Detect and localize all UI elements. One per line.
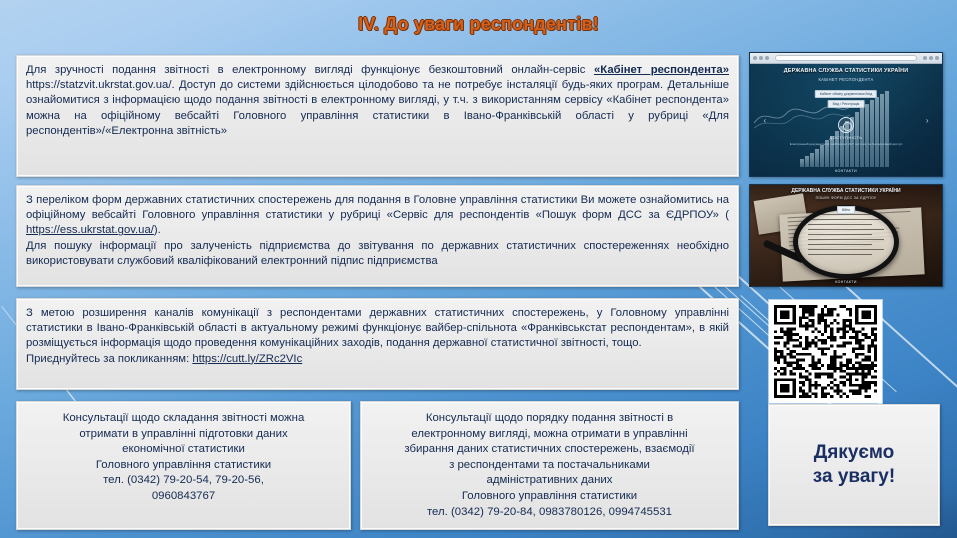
block2-rest: ). — [154, 224, 161, 236]
browser-chrome-bar — [750, 53, 942, 64]
screenshot-cabinet-respondent[interactable]: ДЕРЖАВНА СЛУЖБА СТАТИСТИКИ УКРАЇНИ КАБІН… — [749, 52, 943, 177]
contact-right-line-5: адміністративних даних — [368, 473, 731, 489]
bar-4 — [815, 149, 819, 167]
contact-right-line-1: Консультації щодо порядку подання звітно… — [368, 411, 731, 427]
cabinet-header-title: ДЕРЖАВНА СЛУЖБА СТАТИСТИКИ УКРАЇНИ — [750, 68, 942, 74]
lens-text-line-2 — [808, 219, 884, 220]
contact-left-line-2: отримати в управлінні підготовки даних — [24, 427, 343, 443]
reload-icon — [765, 56, 769, 60]
lens-text-line-4 — [808, 229, 884, 230]
contact-box-electronic-reporting: Консультації щодо порядку подання звітно… — [360, 401, 739, 530]
contact-right-line-7: тел. (0342) 79-20-84, 0983780126, 099474… — [368, 505, 731, 521]
info-panel-cabinet: Для зручності подання звітності в електр… — [16, 55, 739, 177]
contact-right-line-4: з респондентами та постачальниками — [368, 458, 731, 474]
cabinet-accessibility-label: ДОСТУПНІСТЬ — [750, 135, 942, 140]
bar-2 — [805, 156, 809, 167]
lens-text-line-5 — [808, 234, 872, 235]
block1-lead: Для зручності подання звітності в електр… — [26, 64, 594, 76]
browser-toolbar-icons — [923, 56, 939, 60]
qr-code[interactable] — [769, 300, 882, 403]
thank-you-text: Дякуємо за увагу! — [813, 441, 895, 489]
info-panel-viber-community-text: З метою розширення каналів комунікації з… — [17, 299, 738, 373]
block3-lead: З метою розширення каналів комунікації з… — [26, 306, 729, 352]
info-panel-forms-list: З переліком форм державних статистичних … — [16, 185, 739, 287]
accessibility-icon — [838, 117, 854, 133]
info-panel-viber-community: З метою розширення каналів комунікації з… — [16, 298, 739, 390]
bar-1 — [800, 159, 804, 167]
block1-url[interactable]: https://statzvit.ukrstat.gov.ua/ — [26, 79, 171, 91]
info-panel-forms-list-text: З переліком форм державних статистичних … — [17, 186, 738, 275]
page-title: IV. До уваги респондентів! — [0, 14, 957, 35]
cabinet-pill-login-register[interactable]: Вхід / Реєстрація — [828, 100, 865, 108]
forward-icon — [759, 56, 763, 60]
slide-root: IV. До уваги респондентів! Для зручності… — [0, 0, 957, 538]
bookmark-icon — [923, 56, 927, 60]
carousel-next-icon[interactable]: › — [926, 116, 929, 125]
search-forms-header-title: ДЕРЖАВНА СЛУЖБА СТАТИСТИКИ УКРАЇНИ — [750, 188, 942, 194]
lens-text-line-9 — [808, 254, 872, 255]
lens-text-line-7 — [808, 244, 872, 245]
contact-box-economic-statistics: Консультації щодо складання звітності мо… — [16, 401, 351, 530]
bar-16 — [875, 97, 879, 167]
contact-right-line-6: Головного управління статистики — [368, 489, 731, 505]
info-panel-cabinet-text: Для зручності подання звітності в електр… — [17, 56, 738, 145]
thank-you-line-1: Дякуємо — [813, 441, 895, 465]
cabinet-footer-contacts[interactable]: КОНТАКТИ — [750, 169, 942, 173]
cabinet-pill-document-exchange[interactable]: Кабінет обміну документами Вхід — [815, 90, 877, 98]
lens-text-line-8 — [808, 249, 884, 250]
back-icon — [753, 56, 757, 60]
contact-box-electronic-reporting-text: Консультації щодо порядку подання звітно… — [361, 402, 738, 529]
carousel-prev-icon[interactable]: ‹ — [763, 116, 766, 125]
contact-left-line-3: економічної статистики — [24, 442, 343, 458]
bar-3 — [810, 153, 814, 167]
menu-icon — [935, 56, 939, 60]
block2-url[interactable]: https://ess.ukrstat.gov.ua/ — [26, 224, 154, 236]
cabinet-hero-stage: ДЕРЖАВНА СЛУЖБА СТАТИСТИКИ УКРАЇНИ КАБІН… — [750, 64, 942, 176]
search-forms-stage: ДЕРЖАВНА СЛУЖБА СТАТИСТИКИ УКРАЇНИ ПОШУК… — [750, 185, 942, 286]
bar-7 — [830, 136, 834, 167]
contact-right-line-2: електронному вигляді, можна отримати в у… — [368, 427, 731, 443]
contact-left-line-1: Консультації щодо складання звітності мо… — [24, 411, 343, 427]
bar-5 — [820, 145, 824, 167]
bar-18 — [885, 91, 889, 167]
search-forms-footer-contacts[interactable]: КОНТАКТИ — [750, 280, 942, 284]
lens-text-line-6 — [808, 239, 884, 240]
thank-you-box: Дякуємо за увагу! — [768, 404, 940, 526]
contact-box-economic-statistics-text: Консультації щодо складання звітності мо… — [17, 402, 350, 514]
profile-icon — [929, 56, 933, 60]
bar-15 — [870, 100, 874, 167]
block3-url[interactable]: https://cutt.ly/ZRc2VIc — [192, 353, 302, 365]
address-bar[interactable] — [775, 55, 917, 61]
contact-left-line-5: тел. (0342) 79-20-54, 79-20-56, — [24, 473, 343, 489]
block2-lead: З переліком форм державних статистичних … — [26, 194, 729, 221]
block1-highlight: «Кабінет респондента» — [594, 64, 729, 76]
thank-you-line-2: за увагу! — [813, 465, 895, 489]
qr-code-canvas — [774, 305, 877, 398]
search-forms-header-subtitle: ПОШУК ФОРМ ДСС ЗА ЄДРПОУ — [750, 196, 942, 200]
search-forms-login-pill[interactable]: Війти — [837, 206, 855, 214]
contact-right-line-3: збирання даних статистичних спостережень… — [368, 442, 731, 458]
magnifier-lens-icon — [793, 205, 899, 279]
block2-tail: Для пошуку інформації про залученість пі… — [26, 239, 729, 269]
lens-text-line-3 — [808, 224, 872, 225]
screenshot-search-forms[interactable]: ДЕРЖАВНА СЛУЖБА СТАТИСТИКИ УКРАЇНИ ПОШУК… — [749, 184, 943, 287]
cabinet-note-text: Електронний документообіг найближчої 24/… — [788, 142, 903, 146]
contact-left-line-6: 0960843767 — [24, 489, 343, 505]
block3-cta-label: Приєднуйтесь за покликанням: — [26, 353, 192, 365]
contact-left-line-4: Головного управління статистики — [24, 458, 343, 474]
cabinet-header-subtitle: КАБІНЕТ РЕСПОНДЕНТА — [750, 77, 942, 82]
bar-17 — [880, 94, 884, 167]
